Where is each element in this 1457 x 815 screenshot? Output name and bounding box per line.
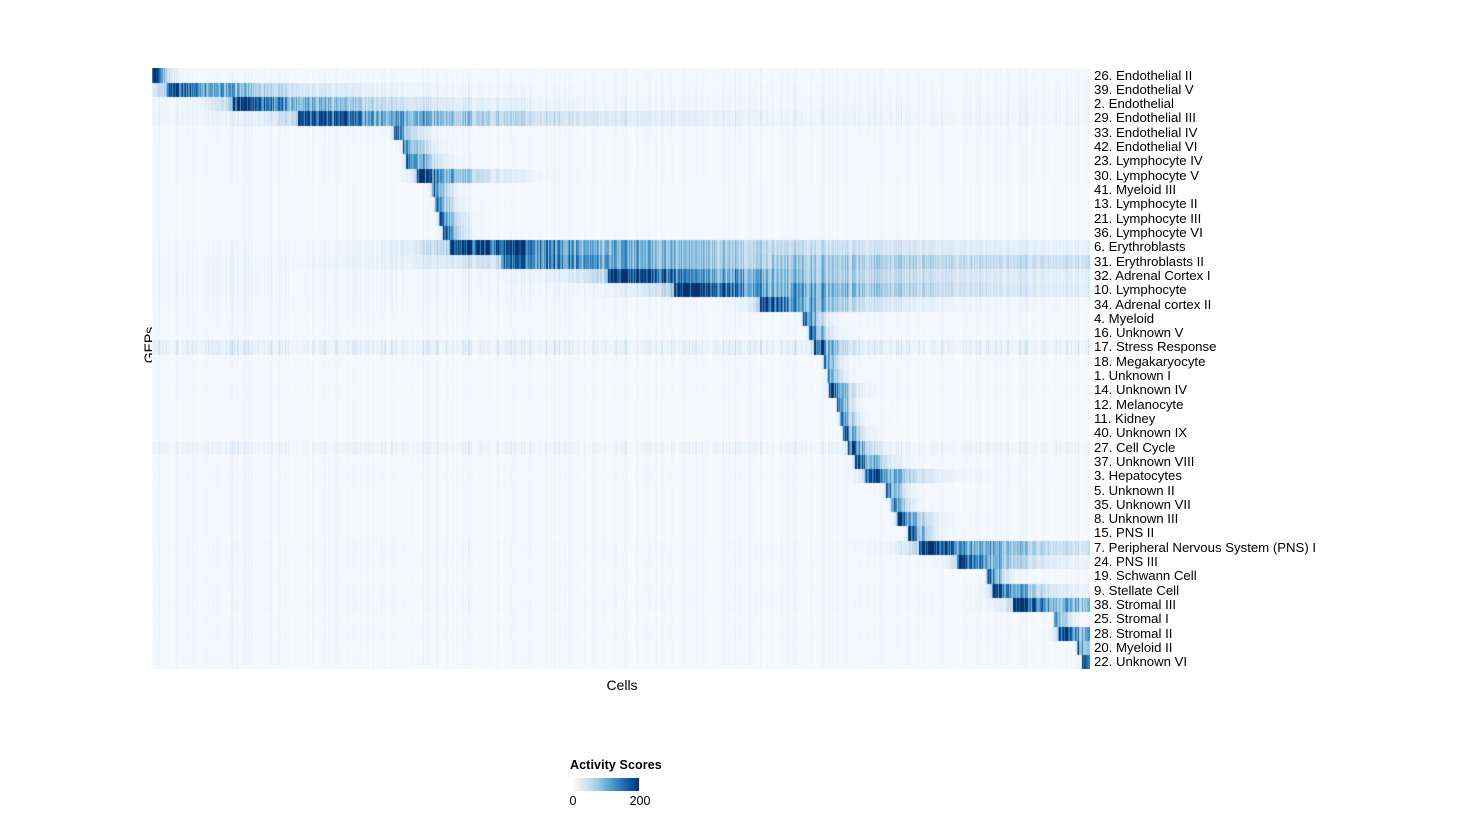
gep-row-label: 1. Unknown I (1094, 369, 1171, 382)
colorbar-bar (573, 778, 640, 791)
gep-row-label: 30. Lymphocyte V (1094, 169, 1199, 182)
gep-row-label: 11. Kidney (1094, 412, 1155, 425)
gep-row-label-axis: 26. Endothelial II39. Endothelial V2. En… (1094, 68, 1434, 669)
gep-row-label: 19. Schwann Cell (1094, 569, 1197, 582)
gep-row-label: 16. Unknown V (1094, 326, 1183, 339)
gep-row-label: 37. Unknown VIII (1094, 455, 1194, 468)
colorbar-tick-labels: 0200 (573, 794, 663, 810)
gep-row-label: 40. Unknown IX (1094, 426, 1187, 439)
gep-row-label: 32. Adrenal Cortex I (1094, 269, 1211, 282)
gep-row-label: 27. Cell Cycle (1094, 441, 1175, 454)
gep-row-label: 21. Lymphocyte III (1094, 212, 1201, 225)
gep-row-label: 20. Myeloid II (1094, 641, 1172, 654)
gep-row-label: 38. Stromal III (1094, 598, 1176, 611)
gep-row-label: 22. Unknown VI (1094, 655, 1187, 668)
gep-row-label: 7. Peripheral Nervous System (PNS) I (1094, 541, 1316, 554)
gep-row-label: 2. Endothelial (1094, 97, 1174, 110)
colorbar-tick-label: 0 (570, 794, 577, 808)
gep-row-label: 5. Unknown II (1094, 484, 1175, 497)
gep-row-label: 13. Lymphocyte II (1094, 197, 1198, 210)
colorbar-tick-label: 200 (630, 794, 651, 808)
gep-row-label: 24. PNS III (1094, 555, 1158, 568)
gep-row-label: 29. Endothelial III (1094, 111, 1196, 124)
gep-row-label: 15. PNS II (1094, 526, 1154, 539)
gep-row-label: 36. Lymphocyte VI (1094, 226, 1203, 239)
gep-row-label: 41. Myeloid III (1094, 183, 1176, 196)
gep-row-label: 39. Endothelial V (1094, 83, 1194, 96)
gep-row-label: 14. Unknown IV (1094, 383, 1187, 396)
gep-row-label: 4. Myeloid (1094, 312, 1154, 325)
gep-row-label: 26. Endothelial II (1094, 69, 1192, 82)
gep-row-label: 23. Lymphocyte IV (1094, 154, 1203, 167)
x-axis-title: Cells (552, 677, 692, 693)
colorbar-tick-mark (639, 778, 641, 791)
heatmap-canvas (152, 68, 1090, 669)
gep-row-label: 6. Erythroblasts (1094, 240, 1186, 253)
gep-row-label: 35. Unknown VII (1094, 498, 1191, 511)
gep-row-label: 42. Endothelial VI (1094, 140, 1197, 153)
gep-row-label: 8. Unknown III (1094, 512, 1178, 525)
gep-row-label: 18. Megakaryocyte (1094, 355, 1205, 368)
gep-row-label: 28. Stromal II (1094, 627, 1172, 640)
gep-row-label: 34. Adrenal cortex II (1094, 298, 1211, 311)
colorbar-title: Activity Scores (570, 758, 748, 772)
gep-row-label: 3. Hepatocytes (1094, 469, 1182, 482)
gep-row-label: 17. Stress Response (1094, 340, 1216, 353)
gep-row-label: 10. Lymphocyte (1094, 283, 1187, 296)
colorbar-legend: Activity Scores 0200 (548, 758, 748, 810)
heatmap-figure: GEPs 26. Endothelial II39. Endothelial V… (0, 0, 1457, 815)
gep-row-label: 9. Stellate Cell (1094, 584, 1179, 597)
gep-row-label: 33. Endothelial IV (1094, 126, 1197, 139)
heatmap-plot-area[interactable] (152, 68, 1090, 669)
gep-row-label: 25. Stromal I (1094, 612, 1169, 625)
gep-row-label: 31. Erythroblasts II (1094, 255, 1204, 268)
gep-row-label: 12. Melanocyte (1094, 398, 1183, 411)
colorbar-gradient (573, 778, 640, 791)
